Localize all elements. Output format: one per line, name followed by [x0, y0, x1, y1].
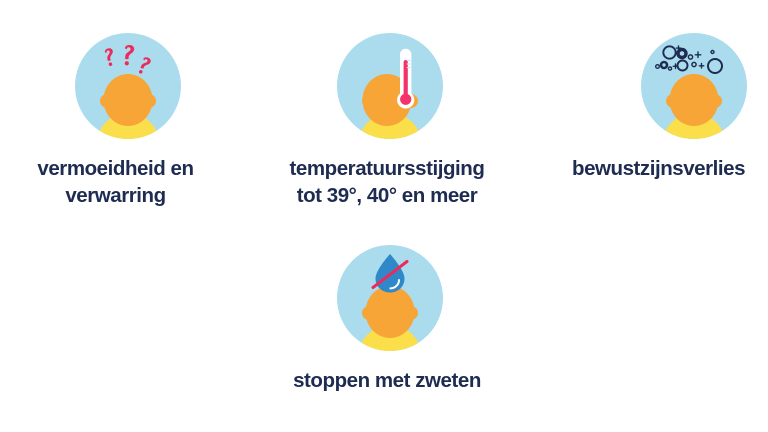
head-with-question-marks-icon	[75, 33, 181, 139]
head-with-crossed-droplet-icon	[337, 245, 443, 351]
symptom-card-stop-sweating: stoppen met zweten	[262, 245, 518, 394]
symptom-card-fatigue-confusion: vermoeidheid en verwarring	[0, 33, 256, 209]
symptom-caption: stoppen met zweten	[253, 367, 521, 394]
head-with-thermometer-icon	[337, 33, 443, 139]
symptom-card-temperature-rise: temperatuursstijging tot 39°, 40° en mee…	[262, 33, 518, 209]
infographic-canvas: vermoeidheid en verwarring	[0, 0, 768, 432]
symptom-caption: temperatuursstijging tot 39°, 40° en mee…	[253, 155, 521, 209]
head-with-bubbles-icon	[641, 33, 747, 139]
symptom-caption: bewustzijnsverlies	[572, 155, 768, 182]
symptom-caption: vermoeidheid en verwarring	[5, 155, 227, 209]
symptom-card-loss-of-consciousness: bewustzijnsverlies	[566, 33, 768, 182]
